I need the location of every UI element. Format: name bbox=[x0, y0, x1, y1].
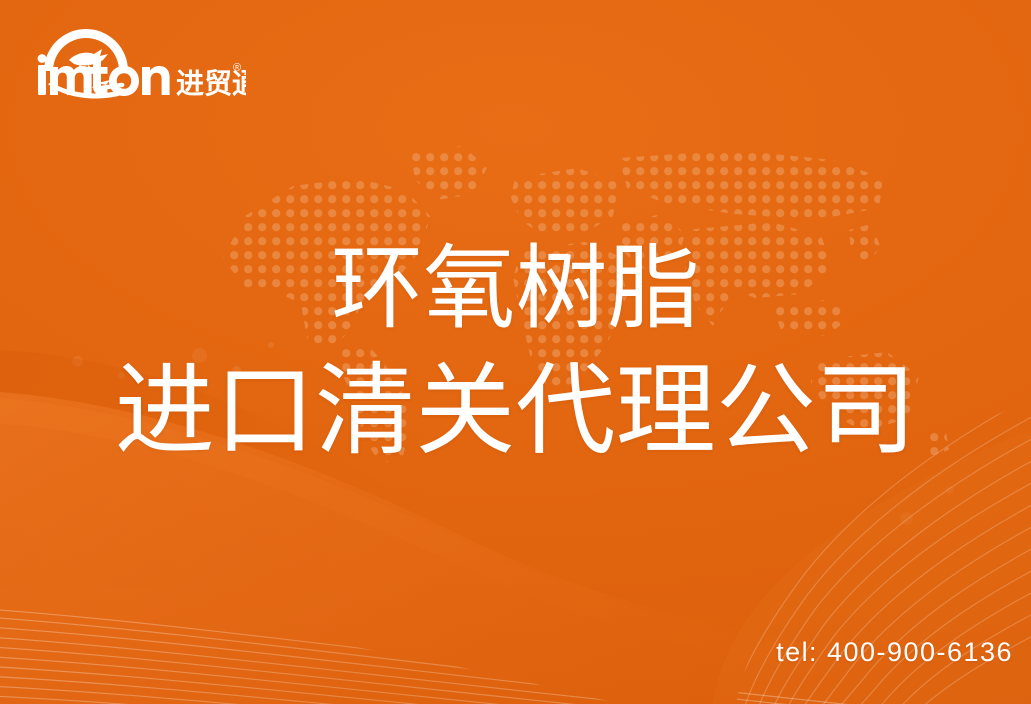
page-title: 环氧树脂 进口清关代理公司 bbox=[0, 236, 1031, 469]
bokeh-speck bbox=[946, 486, 954, 494]
promo-banner: 进贸通 ® 环氧树脂 进口清关代理公司 tel: 400-900-6136 bbox=[0, 0, 1031, 704]
registered-trademark-icon: ® bbox=[233, 62, 241, 74]
company-logo[interactable]: 进贸通 ® bbox=[36, 27, 246, 105]
logo-wordmark bbox=[38, 54, 170, 96]
contact-phone[interactable]: tel: 400-900-6136 bbox=[776, 637, 1013, 668]
bokeh-speck bbox=[900, 512, 913, 525]
headline-line-2: 进口清关代理公司 bbox=[0, 353, 1031, 469]
headline-line-1: 环氧树脂 bbox=[0, 236, 1031, 343]
